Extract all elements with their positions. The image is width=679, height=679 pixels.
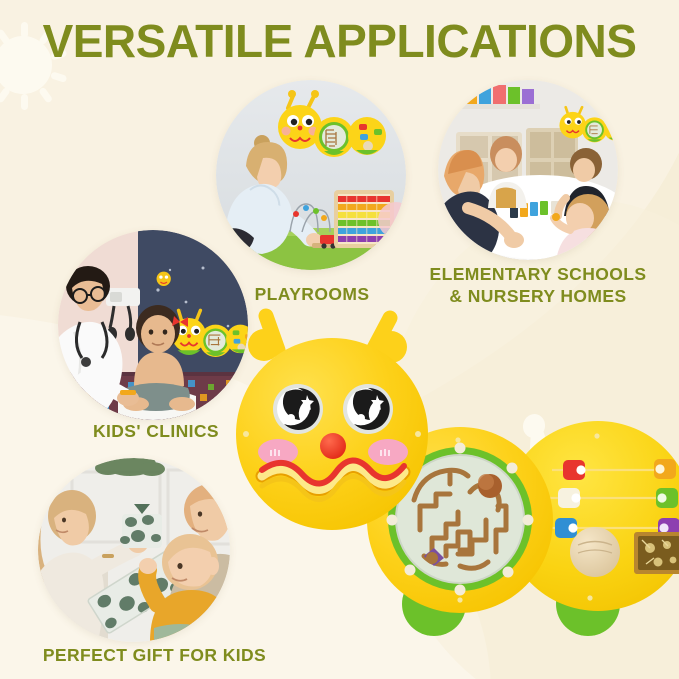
caption-playrooms: PLAYROOMS <box>212 283 412 305</box>
page-title: VERSATILE APPLICATIONS <box>0 14 679 68</box>
poster-canvas: VERSATILE APPLICATIONS <box>0 0 679 679</box>
photo-playrooms <box>216 80 406 270</box>
photo-gift <box>38 458 230 642</box>
caption-gift: PERFECT GIFT FOR KIDS <box>12 644 297 666</box>
caption-clinics: KIDS' CLINICS <box>46 420 266 442</box>
caption-schools: ELEMENTARY SCHOOLS & NURSERY HOMES <box>398 263 678 308</box>
photo-clinics <box>58 230 248 420</box>
photo-schools <box>438 80 618 260</box>
